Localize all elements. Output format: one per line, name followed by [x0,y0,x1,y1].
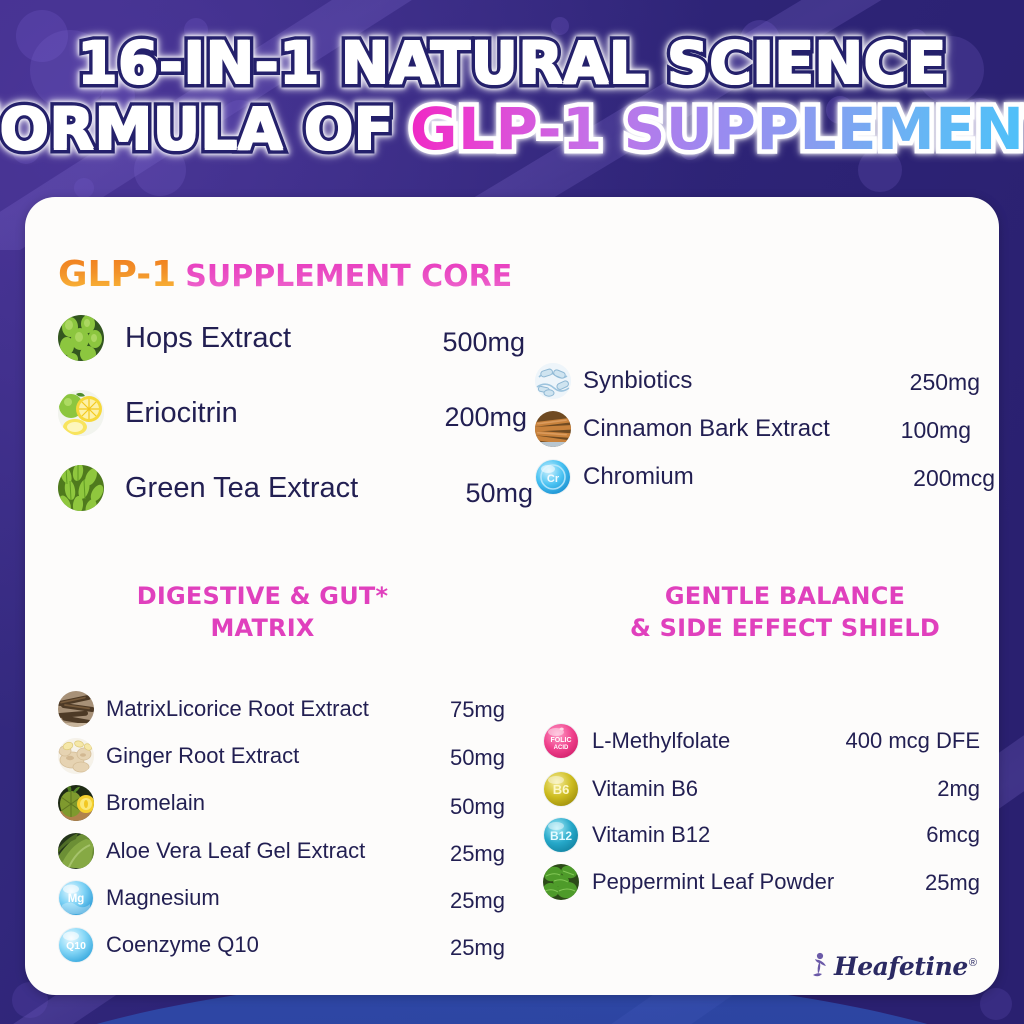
list-item-dose: 25mg [325,841,505,867]
header: 16-IN-1 NATURAL SCIENCE FORMULA OF GLP-1… [0,0,1024,197]
core-heading-rest: SUPPLEMENT CORE [185,259,512,294]
list-item: Green Tea Extract [58,465,358,511]
list-item: Ginger Root Extract [58,738,299,774]
digestive-heading-line2: MATRIX [85,612,440,644]
list-item: Eriocitrin [58,390,238,436]
core-heading-accent: GLP-1 [58,254,176,295]
list-item-dose: 200mcg [785,465,995,492]
licorice-root-icon [58,691,94,727]
list-item-dose: 100mg [785,417,971,444]
digestive-heading-line1: DIGESTIVE & GUT* [85,580,440,612]
list-item: Hops Extract [58,315,291,361]
list-item-label: Synbiotics [583,367,692,395]
chromium-icon: Cr [535,459,571,495]
folic-acid-icon-label-2: ACID [554,745,569,751]
vitamin-b6-icon: B6 [543,771,579,807]
folic-acid-icon-label-1: FOLIC [551,737,572,744]
list-item-label: Eriocitrin [125,397,238,430]
list-item-dose: 25mg [325,888,505,914]
magnesium-icon: Mg [58,880,94,916]
list-item-dose: 6mcg [785,822,980,848]
ginger-root-icon [58,738,94,774]
title-line-1: 16-IN-1 NATURAL SCIENCE [77,34,947,93]
list-item-dose: 400 mcg DFE [785,728,980,754]
list-item: B12 Vitamin B12 [543,817,710,853]
gentle-heading-line2: & SIDE EFFECT SHIELD [570,612,999,644]
gentle-section-heading: GENTLE BALANCE & SIDE EFFECT SHIELD [570,580,999,644]
coenzyme-q10-icon: Q10 [58,927,94,963]
list-item-dose: 500mg [325,327,525,358]
list-item: MatrixLicorice Root Extract [58,691,369,727]
list-item-dose: 250mg [785,369,980,396]
list-item: Q10 Coenzyme Q10 [58,927,259,963]
digestive-section-heading: DIGESTIVE & GUT* MATRIX [85,580,440,644]
title-line-2-plain: FORMULA OF [0,100,394,159]
list-item-label: Bromelain [106,790,205,816]
list-item-label: Vitamin B6 [592,776,698,802]
list-item-label: Ginger Root Extract [106,743,299,769]
brand-registered-mark: ® [969,957,977,969]
chromium-icon-label: Cr [547,473,560,485]
list-item-dose: 25mg [785,870,980,896]
list-item-label: Magnesium [106,885,220,911]
list-item: B6 Vitamin B6 [543,771,698,807]
pineapple-bromelain-icon [58,785,94,821]
coenzyme-q10-icon-label: Q10 [66,940,86,952]
list-item-dose: 50mg [325,794,505,820]
list-item: Cr Chromium [535,459,694,495]
vitamin-b12-icon: B12 [543,817,579,853]
folic-acid-icon: FOLIC ACID [543,723,579,759]
title-line-2-gradient: GLP-1 SUPPLEMENT [410,95,1024,163]
list-item-label: Green Tea Extract [125,472,358,505]
green-tea-icon [58,465,104,511]
list-item-dose: 75mg [325,697,505,723]
list-item-label: Coenzyme Q10 [106,932,259,958]
list-item-label: Chromium [583,463,694,491]
core-section-heading: GLP-1 SUPPLEMENT CORE [58,254,512,295]
citrus-icon [58,390,104,436]
list-item-label: L-Methylfolate [592,728,730,754]
list-item-dose: 50mg [325,745,505,771]
magnesium-icon-label: Mg [68,893,85,905]
title-gradient-wrap: GLP-1 SUPPLEMENT GLP-1 SUPPLEMENT [410,95,1024,163]
list-item: Synbiotics [535,363,692,399]
brand-figure-icon [811,951,833,981]
list-item: Aloe Vera Leaf Gel Extract [58,833,365,869]
synbiotics-icon [535,363,571,399]
list-item-dose: 200mg [325,402,527,433]
list-item: FOLIC ACID L-Methylfolate [543,723,730,759]
ingredient-card: GLP-1 SUPPLEMENT CORE [25,197,999,995]
list-item: Mg Magnesium [58,880,220,916]
cinnamon-icon [535,411,571,447]
aloe-vera-icon [58,833,94,869]
title-line-2: FORMULA OF GLP-1 SUPPLEMENT GLP-1 SUPPLE… [0,95,1024,163]
vitamin-b12-icon-label: B12 [550,829,572,843]
list-item-dose: 50mg [325,478,533,509]
list-item: Bromelain [58,785,205,821]
list-item-label: Vitamin B12 [592,822,710,848]
peppermint-icon [543,864,579,900]
brand-logo: Heafetine ® [811,951,977,981]
list-item-dose: 25mg [325,935,505,961]
brand-name: Heafetine [834,952,968,981]
vitamin-b6-icon-label: B6 [553,782,570,797]
hops-icon [58,315,104,361]
gentle-heading-line1: GENTLE BALANCE [570,580,999,612]
list-item-dose: 2mg [785,776,980,802]
list-item-label: Hops Extract [125,322,291,355]
